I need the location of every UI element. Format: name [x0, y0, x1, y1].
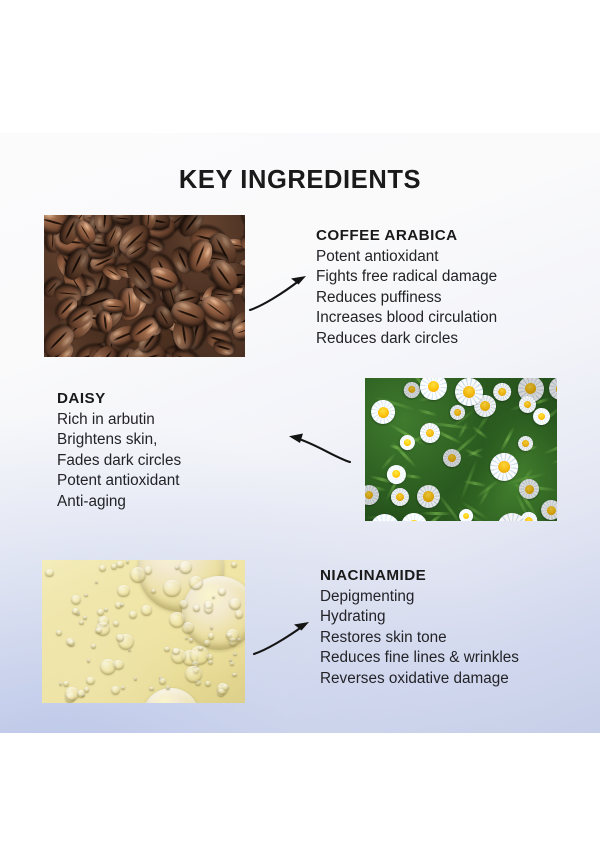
oil-bubble-small: [212, 596, 215, 599]
oil-bubble-small: [116, 561, 123, 568]
benefit-item: Reduces puffiness: [316, 288, 497, 308]
benefit-item: Potent antioxidant: [316, 247, 497, 267]
oil-bubble-small: [97, 609, 104, 616]
oil-bubble-small: [232, 673, 237, 678]
benefit-item: Rich in arbutin: [57, 410, 181, 430]
oil-bubble-small: [117, 585, 130, 598]
oil-bubble-small: [204, 604, 213, 613]
key-ingredients-infographic: KEY INGREDIENTS COFFEE ARABICA Potent an…: [0, 0, 600, 866]
coffee-arabica-image: [44, 215, 245, 357]
oil-bubble-small: [141, 605, 152, 616]
benefit-item: Reverses oxidative damage: [320, 669, 519, 689]
oil-bubble-small: [218, 588, 226, 596]
oil-bubble-small: [77, 690, 85, 698]
oil-bubble-small: [235, 610, 243, 618]
oil-bubble-small: [83, 616, 87, 620]
ingredient-name-niacinamide: NIACINAMIDE: [320, 567, 519, 584]
oil-bubble-small: [189, 576, 203, 590]
oil-bubble-small: [91, 644, 96, 649]
oil-bubble-small: [189, 638, 193, 642]
oil-bubble-small: [217, 683, 229, 695]
oil-bubble-small: [130, 567, 146, 583]
oil-bubble-small: [126, 560, 129, 563]
foliage-leaf: [421, 511, 452, 515]
benefit-item: Reduces fine lines & wrinkles: [320, 648, 519, 668]
benefit-item: Fights free radical damage: [316, 267, 497, 287]
ingredient-name-daisy: DAISY: [57, 390, 181, 407]
oil-bubble-small: [179, 600, 188, 609]
oil-bubble-small: [193, 605, 199, 611]
benefit-item: Fades dark circles: [57, 451, 181, 471]
benefit-item: Anti-aging: [57, 492, 181, 512]
oil-bubble-small: [198, 647, 202, 651]
oil-bubble-small: [164, 647, 169, 652]
oil-bubble-small: [111, 564, 117, 570]
oil-bubble-small: [86, 677, 94, 685]
oil-bubble-small: [68, 640, 75, 647]
oil-bubble-small: [163, 580, 180, 597]
benefit-item: Increases blood circulation: [316, 308, 497, 328]
niacinamide-text-block: NIACINAMIDE Depigmenting Hydrating Resto…: [320, 567, 519, 689]
arrow-to-coffee-text: [248, 252, 318, 314]
oil-bubble-small: [204, 640, 211, 647]
benefit-item: Restores skin tone: [320, 628, 519, 648]
oil-bubble-small: [159, 678, 166, 685]
oil-bubble-small: [59, 682, 62, 685]
arrow-to-daisy-text: [282, 424, 354, 468]
oil-bubble-small: [149, 687, 153, 691]
niacinamide-image: [42, 560, 245, 703]
benefit-item: Depigmenting: [320, 587, 519, 607]
benefit-item: Hydrating: [320, 607, 519, 627]
daisy-text-block: DAISY Rich in arbutin Brightens skin, Fa…: [57, 390, 181, 512]
arrow-to-niacinamide-text: [252, 600, 320, 658]
ingredient-name-coffee-arabica: COFFEE ARABICA: [316, 227, 497, 244]
oil-bubble-small: [72, 608, 79, 615]
daisy-image: [365, 378, 557, 521]
oil-bubble-small: [116, 634, 124, 642]
oil-bubble-small: [95, 581, 98, 584]
benefit-item: Reduces dark circles: [316, 329, 497, 349]
oil-bubble-small: [56, 630, 62, 636]
oil-bubble-small: [185, 666, 202, 683]
oil-bubble-small: [175, 566, 179, 570]
oil-bubble-small: [87, 659, 90, 662]
benefit-item: Brightens skin,: [57, 430, 181, 450]
oil-bubble-small: [233, 653, 237, 657]
benefit-item: Potent antioxidant: [57, 471, 181, 491]
oil-bubble-small: [134, 677, 137, 680]
page-title: KEY INGREDIENTS: [0, 166, 600, 195]
oil-bubble-small: [104, 608, 108, 612]
oil-bubble-small: [95, 628, 102, 635]
coffee-arabica-text-block: COFFEE ARABICA Potent antioxidant Fights…: [316, 227, 497, 349]
